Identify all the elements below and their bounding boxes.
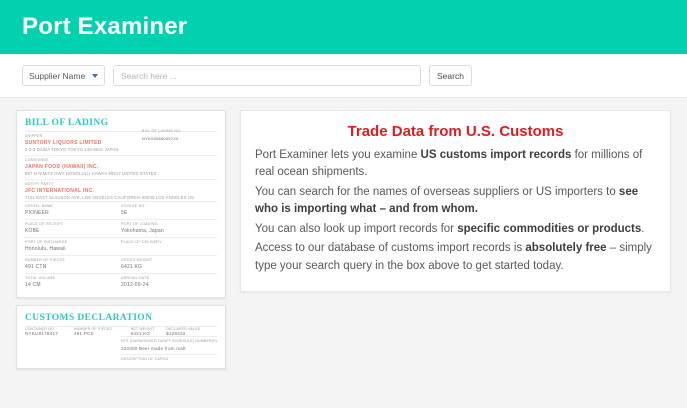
bl-field-row: TOTAL VOLUME 14 CM ARRIVAL DATE 2012-09-… — [25, 273, 217, 291]
bl-field-value: 14 CM — [25, 280, 121, 291]
bl-number-block: BILL OF LADING NO. NYKS00660057X0 — [142, 125, 208, 141]
main-content: BILL OF LADING NO. NYKS00660057X0 BILL O… — [0, 98, 687, 376]
bl-number-value: NYKS00660057X0 — [142, 136, 208, 141]
page-root: Port Examiner Supplier Name Search BILL … — [0, 0, 687, 408]
info-paragraph: Port Examiner lets you examine US custom… — [255, 147, 656, 182]
customs-declaration-table: CONTAINER NO. NUMBER OF PIECES NET WEIGH… — [25, 326, 217, 336]
sample-document-column: BILL OF LADING NO. NYKS00660057X0 BILL O… — [16, 110, 226, 376]
bl-field-row: PORT OF DISCHARGE Honolulu, Hawaii PLACE… — [25, 237, 217, 255]
info-text-bold: specific commodities or products — [457, 223, 641, 235]
info-paragraph: You can search for the names of overseas… — [255, 184, 656, 219]
hts-label: HTS (HARMONIZED TARIFF SCHEDULE) NUMBER(… — [121, 336, 217, 344]
bl-field-row: VESSEL NAME PIONEER VOYAGE NO. 5E — [25, 201, 217, 219]
bl-field-value — [121, 244, 217, 249]
info-text-bold: US customs import records — [421, 149, 572, 161]
bl-number-label: BILL OF LADING NO. — [142, 127, 208, 133]
hts-value: 220300 Beer made from malt — [121, 344, 217, 354]
bl-field-row: PLACE OF RECEIPT KOBE PORT OF LOADING Yo… — [25, 219, 217, 237]
info-paragraph: Access to our database of customs import… — [255, 240, 656, 275]
customs-declaration-title: CUSTOMS DECLARATION — [25, 313, 217, 323]
info-paragraph: You can also look up import records for … — [255, 221, 656, 238]
bl-field-value: PIONEER — [25, 208, 121, 219]
bl-field-value: Honolulu, Hawaii — [25, 244, 121, 255]
page-title: Port Examiner — [22, 13, 187, 41]
bl-field-row: NUMBER OF PIECES 491 CTN GROSS WEIGHT 64… — [25, 255, 217, 273]
info-text: Access to our database of customs import… — [255, 242, 525, 254]
shipper-address: 2-3-3 DAIBA TOKYO TOKYO 135-8631 JAPAN — [25, 147, 217, 153]
info-text-bold: absolutely free — [525, 242, 606, 254]
info-text: You can also look up import records for — [255, 223, 457, 235]
search-button[interactable]: Search — [429, 65, 472, 86]
search-category-label: Supplier Name — [29, 71, 85, 81]
info-panel: Trade Data from U.S. Customs Port Examin… — [240, 110, 671, 292]
consignee-address: 887 N NIMITZ HWY HONOLULU HAWAII 96817 U… — [25, 171, 217, 177]
bl-field-value: Yokohama, Japan — [121, 226, 217, 237]
cd-column-value: NYKU8178417 — [25, 331, 74, 336]
bl-field-value: 2012-09-24 — [121, 280, 217, 291]
search-category-select[interactable]: Supplier Name — [22, 65, 105, 86]
info-text: . — [641, 223, 644, 235]
info-text: You can search for the names of overseas… — [255, 186, 619, 198]
app-header: Port Examiner — [0, 0, 687, 54]
cargo-description-label: DESCRIPTION OF CARGO — [121, 354, 217, 362]
chevron-down-icon — [92, 74, 98, 78]
info-text: Port Examiner lets you examine — [255, 149, 421, 161]
customs-declaration-card: CUSTOMS DECLARATION CONTAINER NO. NUMBER… — [16, 305, 226, 369]
search-bar: Supplier Name Search — [0, 54, 687, 98]
consignee-label: CONSIGNEE — [25, 155, 217, 162]
notify-party-name: JFC INTERNATIONAL INC. — [25, 188, 217, 194]
bill-of-lading-card: BILL OF LADING NO. NYKS00660057X0 BILL O… — [16, 110, 226, 298]
hts-block: HTS (HARMONIZED TARIFF SCHEDULE) NUMBER(… — [121, 336, 217, 362]
notify-party-label: NOTIFY PARTY — [25, 179, 217, 186]
bl-field-value: 6421 KG — [121, 262, 217, 273]
bl-field-value: 491 CTN — [25, 262, 121, 273]
bl-field-value: KOBE — [25, 226, 121, 237]
search-input[interactable] — [113, 65, 421, 86]
info-panel-title: Trade Data from U.S. Customs — [255, 123, 656, 140]
bl-field-value: 5E — [121, 208, 217, 219]
consignee-name: JAPAN FOOD (HAWAII) INC. — [25, 164, 217, 170]
